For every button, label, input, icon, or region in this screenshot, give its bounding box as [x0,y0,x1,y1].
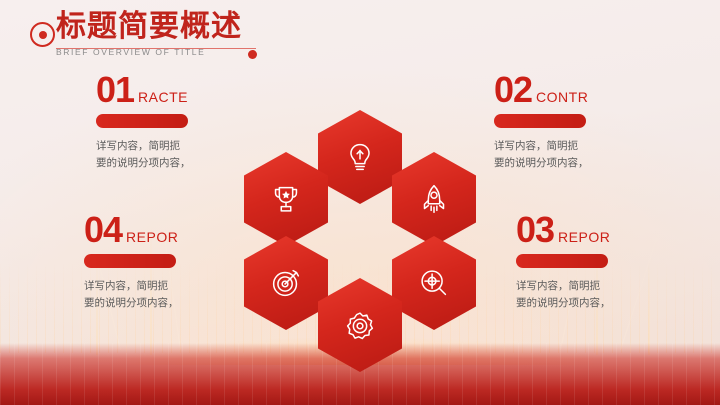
block-description-line2: 要的说明分项内容， [494,155,589,172]
block-description: 详写内容，简明扼 要的说明分项内容， [84,278,179,312]
content-block-02[interactable]: 02 CONTR 详写内容，简明扼 要的说明分项内容， [494,72,589,172]
lightbulb-icon [341,138,379,176]
block-label: REPOR [126,229,178,245]
block-label: RACTE [138,89,188,105]
hexagon-lightbulb[interactable] [318,110,402,204]
hexagon-trophy[interactable] [244,152,328,246]
content-block-01[interactable]: 01 RACTE 详写内容，简明扼 要的说明分项内容， [96,72,191,172]
content-block-03[interactable]: 03 REPOR 详写内容，简明扼 要的说明分项内容， [516,212,611,312]
content-block-04[interactable]: 04 REPOR 详写内容，简明扼 要的说明分项内容， [84,212,179,312]
page-title: 标题简要概述 [56,10,242,44]
slide-canvas: 标题简要概述 BRIEF OVERVIEW OF TITLE [0,0,720,405]
block-heading: 02 CONTR [494,72,589,108]
block-number: 04 [84,212,122,248]
block-accent-bar [84,254,176,268]
block-label: REPOR [558,229,610,245]
block-accent-bar [96,114,188,128]
block-label: CONTR [536,89,588,105]
block-description: 详写内容，简明扼 要的说明分项内容， [96,138,191,172]
block-accent-bar [516,254,608,268]
block-description: 详写内容，简明扼 要的说明分项内容， [494,138,589,172]
block-heading: 01 RACTE [96,72,191,108]
trophy-icon [267,180,305,218]
block-description-line1: 详写内容，简明扼 [516,278,611,295]
block-description-line2: 要的说明分项内容， [96,155,191,172]
block-description-line1: 详写内容，简明扼 [84,278,179,295]
slide-header: 标题简要概述 BRIEF OVERVIEW OF TITLE [56,10,242,57]
block-description-line2: 要的说明分项内容， [84,295,179,312]
block-description: 详写内容，简明扼 要的说明分项内容， [516,278,611,312]
block-heading: 03 REPOR [516,212,611,248]
ring-decoration [30,22,55,47]
rocket-icon [415,180,453,218]
title-underline [56,48,256,49]
block-accent-bar [494,114,586,128]
block-number: 01 [96,72,134,108]
block-description-line2: 要的说明分项内容， [516,295,611,312]
target-icon [267,264,305,302]
block-description-line1: 详写内容，简明扼 [494,138,589,155]
block-heading: 04 REPOR [84,212,179,248]
hexagon-rocket[interactable] [392,152,476,246]
dot-decoration [248,50,257,59]
block-description-line1: 详写内容，简明扼 [96,138,191,155]
block-number: 03 [516,212,554,248]
block-number: 02 [494,72,532,108]
magnifier-target-icon [415,264,453,302]
gear-icon [341,306,379,344]
